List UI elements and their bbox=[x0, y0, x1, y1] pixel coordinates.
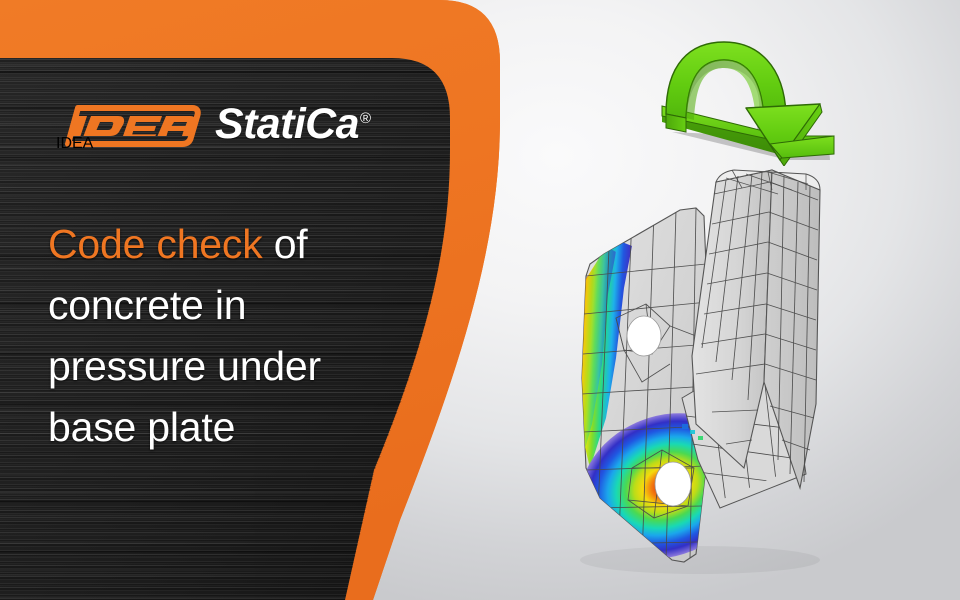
registered-mark-icon: ® bbox=[360, 110, 370, 127]
headline-accent: Code check bbox=[48, 221, 263, 267]
idea-logo-text: IDEA bbox=[56, 135, 94, 150]
headline-line-2: concrete in bbox=[48, 275, 378, 336]
statica-wordmark: StatiCa® bbox=[215, 102, 370, 146]
headline-line-3: pressure under bbox=[48, 336, 378, 397]
headline-line-4: base plate bbox=[48, 397, 378, 458]
idea-wordmark-icon: IDEA bbox=[56, 102, 204, 150]
idea-statica-logo[interactable]: IDEA StatiCa® bbox=[56, 102, 370, 158]
bolt-hole-upper bbox=[627, 316, 661, 356]
rotation-moment-arrow-icon bbox=[658, 36, 844, 166]
fem-base-plate-model bbox=[520, 168, 860, 578]
bolt-hole-lower bbox=[655, 462, 691, 506]
statica-text: StatiCa bbox=[215, 100, 359, 148]
banner-stage: IDEA StatiCa® Code check of concrete in … bbox=[0, 0, 960, 600]
headline-line-1: Code check of bbox=[48, 214, 378, 275]
headline-line-1-rest: of bbox=[263, 221, 308, 267]
headline: Code check of concrete in pressure under… bbox=[48, 214, 378, 458]
